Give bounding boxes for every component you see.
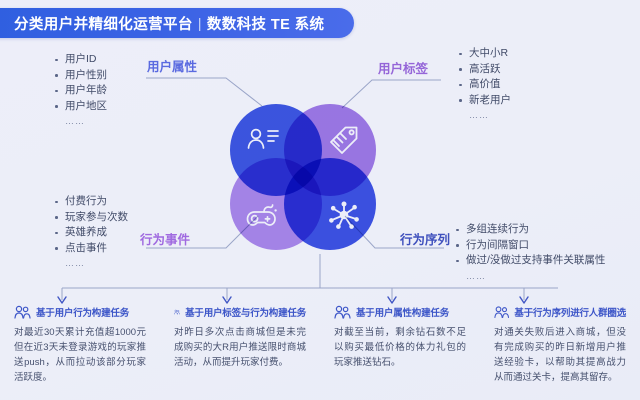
banner-left-title: 分类用户并精细化运营平台 [14,13,193,34]
card-body: 对截至当前，剩余钻石数不足以购买最低价格的体力礼包的玩家推送钻石。 [334,325,466,370]
card-body: 对昨日多次点击商城但是未完成购买的大R用户推送限时商城活动，从而提升玩家付费。 [174,325,306,370]
banner-right-title: 数数科技 TE 系统 [207,13,325,34]
list-item: 行为间隔窗口 [455,238,605,254]
list-item: 用户性别 [54,68,107,84]
arrow-head-1 [58,297,66,303]
task-card: 基于用户属性构建任务 对截至当前，剩余钻石数不足以购买最低价格的体力礼包的玩家推… [320,305,480,385]
card-title: 基于行为序列进行人群圈选 [514,305,626,319]
people-group-icon [334,305,351,319]
list-item: 点击事件 [54,241,128,257]
wire-user-attribute [146,78,262,106]
list-more: …… [458,108,511,124]
people-group-icon [14,305,31,319]
card-header: 基于用户标签与行为构建任务 [174,305,306,319]
user-profile-icon [246,126,280,154]
gamepad-icon [246,201,280,229]
list-item: 用户年龄 [54,83,107,99]
list-more: …… [455,269,605,285]
title-banner: 分类用户并精细化运营平台 | 数数科技 TE 系统 [0,8,354,38]
infographic-page: 分类用户并精细化运营平台 | 数数科技 TE 系统 [0,0,640,400]
list-item: 高活跃 [458,62,511,78]
card-title: 基于用户标签与行为构建任务 [185,305,306,319]
list-item: 高价值 [458,77,511,93]
card-header: 基于用户属性构建任务 [334,305,466,319]
task-card-list: 基于用户行为构建任务 对最近30天累计充值超1000元但在近3天未登录游戏的玩家… [0,305,640,385]
card-title: 基于用户行为构建任务 [36,305,129,319]
banner-separator: | [198,15,202,31]
label-behavior-event: 行为事件 [140,229,190,248]
list-behavior-sequence: 多组连续行为 行为间隔窗口 做过/没做过支持事件关联属性 …… [455,222,605,284]
label-user-tag: 用户标签 [378,58,428,77]
list-item: 付费行为 [54,194,128,210]
list-item: 用户地区 [54,99,107,115]
list-item: 英雄养成 [54,225,128,241]
arrow-head-3 [388,297,396,303]
task-card: 基于行为序列进行人群圈选 对通关失败后进入商城，但没有完成购买的昨日新增用户推送… [480,305,640,385]
list-user-tag: 大中小R 高活跃 高价值 新老用户 …… [458,46,511,124]
task-card: 基于用户行为构建任务 对最近30天累计充值超1000元但在近3天未登录游戏的玩家… [0,305,160,385]
list-more: …… [54,114,107,130]
card-header: 基于用户行为构建任务 [14,305,146,319]
list-user-attribute: 用户ID 用户性别 用户年龄 用户地区 …… [54,52,107,130]
list-behavior-event: 付费行为 玩家参与次数 英雄养成 点击事件 …… [54,194,128,272]
people-group-icon [174,305,180,319]
task-card: 基于用户标签与行为构建任务 对昨日多次点击商城但是未完成购买的大R用户推送限时商… [160,305,320,385]
tag-icon [328,124,360,156]
list-item: 多组连续行为 [455,222,605,238]
arrow-head-4 [520,297,528,303]
label-user-attribute: 用户属性 [147,56,197,75]
list-item: 玩家参与次数 [54,210,128,226]
people-group-icon [494,305,509,319]
list-item: 新老用户 [458,93,511,109]
list-item: 做过/没做过支持事件关联属性 [455,253,605,269]
venn-circle-behavior-sequence [284,158,376,250]
arrow-head-2 [223,297,231,303]
card-body: 对通关失败后进入商城，但没有完成购买的昨日新增用户推送经验卡，以帮助其提高战力从… [494,325,626,385]
card-body: 对最近30天累计充值超1000元但在近3天未登录游戏的玩家推送push，从而拉动… [14,325,146,385]
list-item: 用户ID [54,52,107,68]
list-item: 大中小R [458,46,511,62]
network-node-icon [328,199,360,231]
venn-diagram [228,104,418,254]
list-more: …… [54,256,128,272]
card-title: 基于用户属性构建任务 [356,305,449,319]
card-header: 基于行为序列进行人群圈选 [494,305,626,319]
